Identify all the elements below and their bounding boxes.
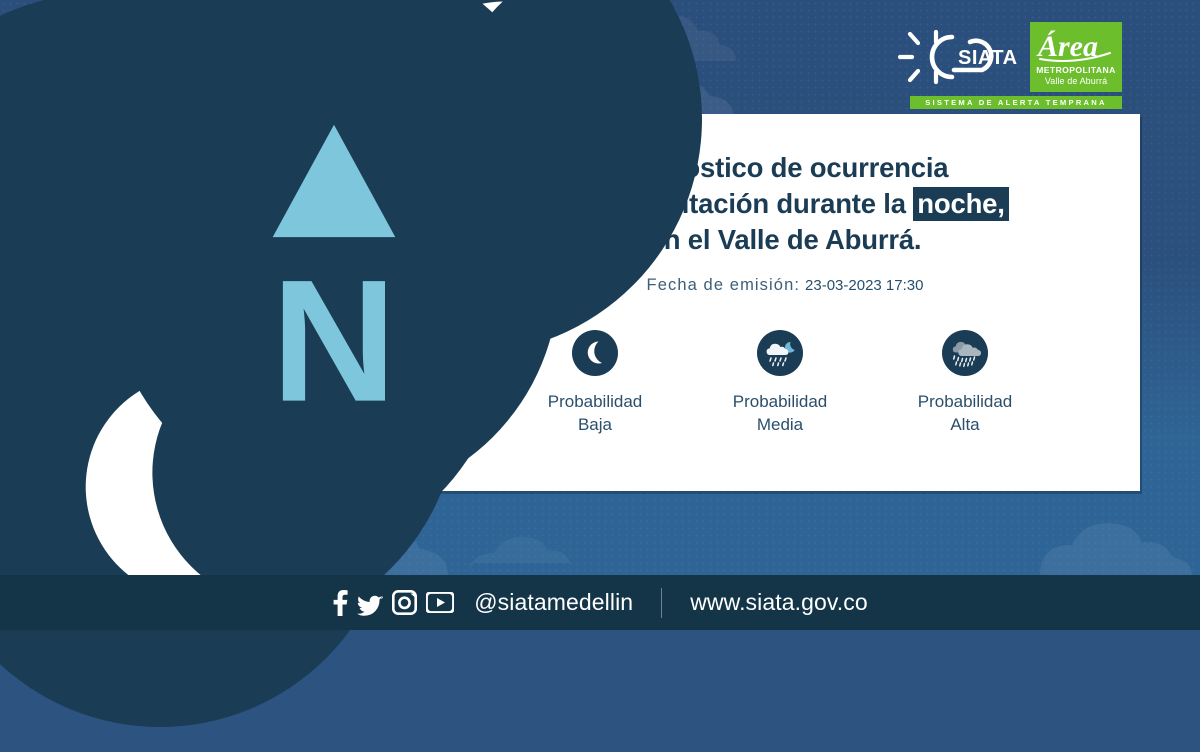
legend-item-alta: Probabilidad Alta [880, 330, 1050, 437]
legend-label-baja: Probabilidad Baja [548, 391, 643, 437]
social-icons [332, 590, 454, 616]
moon-icon [572, 330, 618, 376]
area-metropolitana-line1: METROPOLITANA [1036, 66, 1116, 76]
area-metropolitana-logo: Área METROPOLITANA Valle de Aburrá [1030, 22, 1122, 92]
title-line-2: de precipitación durante la noche, [470, 186, 1100, 222]
valle-de-aburra-map: N [56, 44, 526, 564]
footer-bar: @siatamedellin www.siata.gov.co [0, 575, 1200, 630]
emission-value: 23-03-2023 17:30 [805, 277, 923, 294]
siata-sun-cloud-icon: SIATA [894, 22, 1024, 92]
siata-tagline-text: SISTEMA DE ALERTA TEMPRANA [925, 98, 1107, 107]
legend-alta-line2: Alta [918, 414, 1013, 437]
legend-item-media: Probabilidad Media [695, 330, 865, 437]
headline-panel: Pronóstico de ocurrencia de precipitació… [470, 150, 1100, 295]
footer-divider [661, 588, 662, 618]
emission-date: Fecha de emisión: 23-03-2023 17:30 [470, 276, 1100, 295]
legend-baja-line1: Probabilidad [548, 391, 643, 414]
area-metropolitana-line2: Valle de Aburrá [1045, 76, 1107, 87]
social-handle[interactable]: @siatamedellin [474, 589, 633, 616]
legend-item-baja: Probabilidad Baja [510, 330, 680, 437]
cloud-rain-moon-icon [757, 330, 803, 376]
title-highlight-noche: noche, [913, 187, 1008, 221]
compass-label: N [271, 244, 396, 438]
title-line-3: en el Valle de Aburrá. [470, 222, 1100, 258]
legend-baja-line2: Baja [548, 414, 643, 437]
legend-media-line1: Probabilidad [733, 391, 828, 414]
area-script-logo: Área [1036, 26, 1116, 66]
page-title: Pronóstico de ocurrencia de precipitació… [470, 150, 1100, 257]
legend-label-alta: Probabilidad Alta [918, 391, 1013, 437]
siata-tagline-bar: SISTEMA DE ALERTA TEMPRANA [910, 96, 1122, 109]
legend-media-line2: Media [733, 414, 828, 437]
logo-group: SIATA Área METROPOLITANA Valle de Aburrá [894, 22, 1122, 92]
title-line-2-text: de precipitación durante la [561, 188, 906, 219]
website-url[interactable]: www.siata.gov.co [690, 589, 868, 616]
twitter-icon[interactable] [357, 590, 383, 616]
facebook-icon[interactable] [332, 590, 348, 616]
legend-label-media: Probabilidad Media [733, 391, 828, 437]
cloud-heavy-rain-icon [942, 330, 988, 376]
probability-legend: Probabilidad Baja Proba [470, 330, 1090, 437]
siata-wordmark: SIATA [958, 47, 1018, 69]
emission-label: Fecha de emisión: [647, 276, 801, 294]
title-line-1: Pronóstico de ocurrencia [470, 150, 1100, 186]
youtube-icon[interactable] [426, 592, 454, 613]
infographic-root: N Pronóstico de ocurrencia de precipitac… [0, 0, 1200, 630]
instagram-icon[interactable] [392, 590, 417, 615]
legend-alta-line1: Probabilidad [918, 391, 1013, 414]
